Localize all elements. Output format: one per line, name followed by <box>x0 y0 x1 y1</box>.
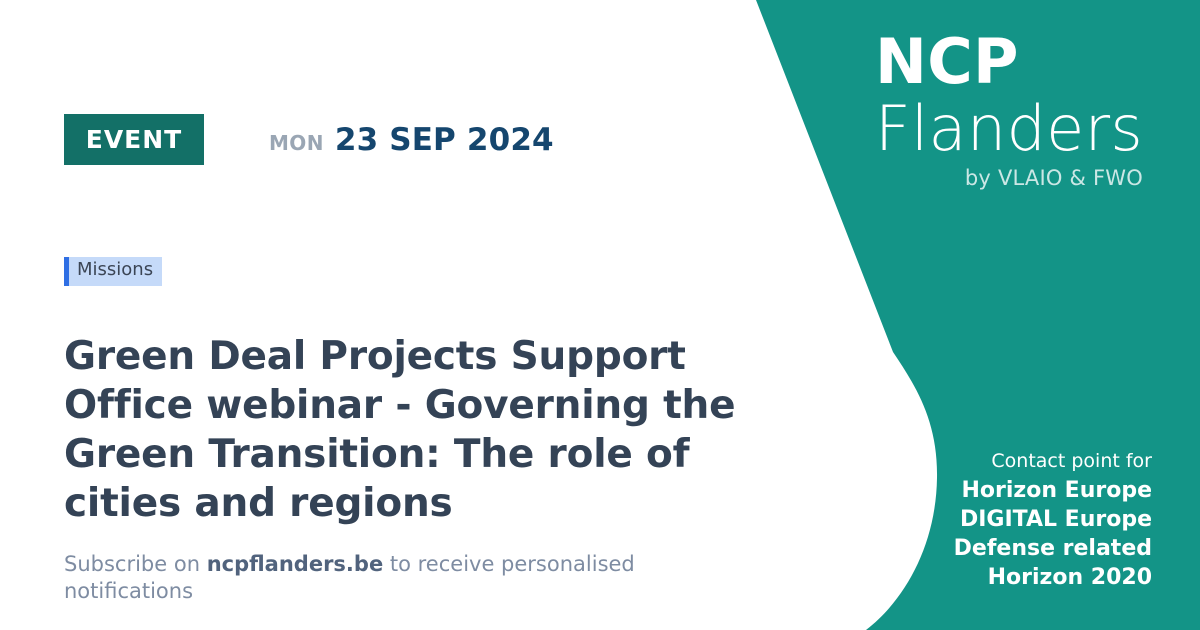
contact-programme: Horizon Europe <box>954 476 1152 505</box>
event-date-value: 23 SEP 2024 <box>335 122 554 158</box>
event-type-badge: EVENT <box>64 114 204 165</box>
contact-point-lead: Contact point for <box>954 448 1152 474</box>
event-day-of-week: MON <box>269 131 324 155</box>
subscribe-note: Subscribe on ncpflanders.be to receive p… <box>64 551 764 606</box>
topic-tag-missions[interactable]: Missions <box>64 257 162 286</box>
event-announcement-card: EVENT MON 23 SEP 2024 Missions Green Dea… <box>0 0 1200 630</box>
brand-logo: NCP Flanders by VLAIO & FWO <box>875 28 1143 190</box>
event-meta-row: EVENT MON 23 SEP 2024 <box>64 114 554 165</box>
contact-programme: Defense related <box>954 534 1152 563</box>
contact-point-block: Contact point for Horizon Europe DIGITAL… <box>954 448 1152 592</box>
subscribe-domain-link[interactable]: ncpflanders.be <box>207 552 384 576</box>
brand-name-primary: NCP <box>875 28 1143 96</box>
contact-programme: DIGITAL Europe <box>954 505 1152 534</box>
event-date: MON 23 SEP 2024 <box>269 122 554 158</box>
event-title: Green Deal Projects Support Office webin… <box>64 332 774 528</box>
subscribe-prefix: Subscribe on <box>64 552 207 576</box>
brand-byline: by VLAIO & FWO <box>875 166 1143 190</box>
contact-programme: Horizon 2020 <box>954 563 1152 592</box>
event-details-column: EVENT MON 23 SEP 2024 Missions Green Dea… <box>64 0 764 630</box>
brand-name-secondary: Flanders <box>875 96 1143 162</box>
